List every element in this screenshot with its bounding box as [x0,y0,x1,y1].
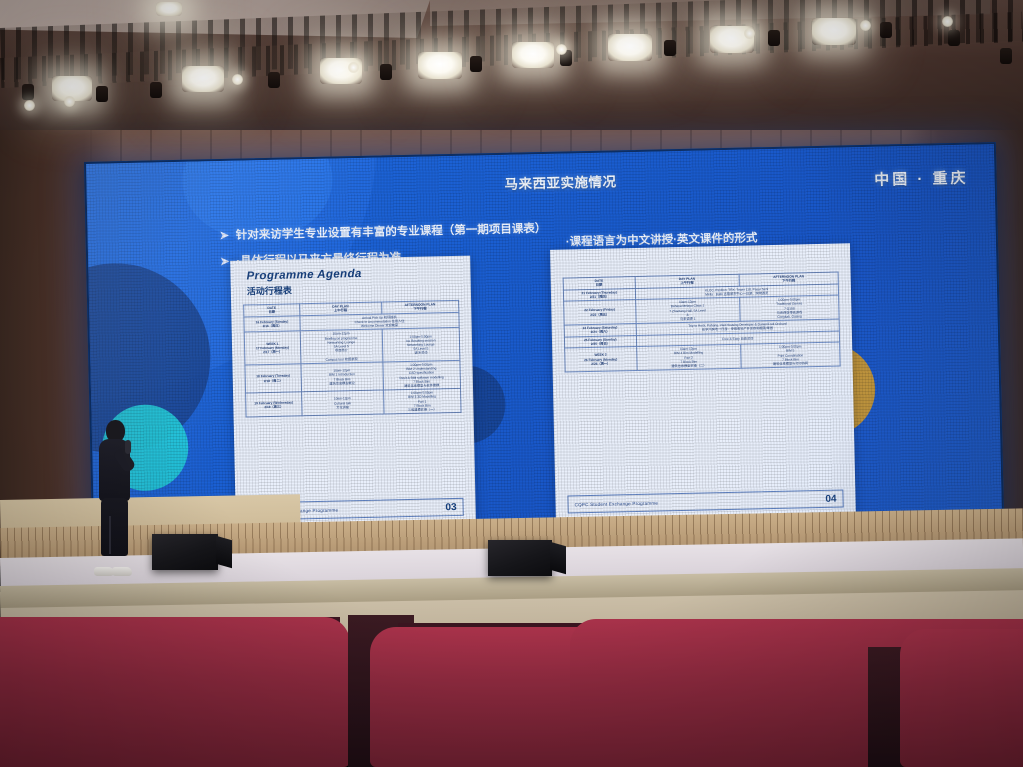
cell-date: 18 February (Tuesday)2/18（周二） [245,364,301,394]
stage-lamp [812,18,856,45]
cell-morning-plan: 10am-12pmCultural talk文化讲座 [301,390,383,416]
presenter-shoe-left [94,567,114,576]
spotlight-lens [556,44,567,55]
spotlight-fixture [268,72,280,88]
bullet-arrow-icon: ➤ [220,255,230,268]
spotlight-fixture [96,86,108,102]
cell-afternoon-plan: 1:00pm-5:00pmBIM 3 3D ModellingPart 17 B… [383,389,461,415]
spotlight-fixture [664,40,676,56]
auditorium-photo-scene: 马来西亚实施情况 中国 · 重庆 ➤针对来访学生专业设置有丰富的专业课程（第一期… [0,0,1023,767]
spotlight-lens [942,16,953,27]
stage-monitor-speaker-right [488,540,552,576]
stage-lamp [418,52,462,79]
spotlight-fixture [22,84,34,100]
stage-lamp-ceiling-recessed [156,2,182,16]
page-number: 03 [445,501,456,512]
presenter-with-microphone [92,420,148,576]
spotlight-lens [348,62,359,73]
spotlight-lens [744,28,755,39]
spotlight-fixture [150,82,162,98]
footer-label: CQPC Student Exchange Programme [575,500,659,507]
cell-date: WEEK 226 February (Monday)2/26（周一） [565,347,637,373]
cell-afternoon-plan: 1:00pm-5:00pmTraditional Games7 Q108马来西亚… [740,295,840,321]
presenter-leg-split [109,516,111,554]
presenter-legs [101,498,128,556]
spotlight-lens [24,100,35,111]
seat-back [900,629,1023,767]
cell-morning-plan: 10am-12pmBahasa Melayu Class 17 Zhaotang… [635,297,740,323]
spotlight-lens [232,74,243,85]
agenda-table-left: DATE日期DAY PLAN上午行程AFTERNOON PLAN下午行程 16 … [243,300,461,418]
spotlight-fixture [880,22,892,38]
spotlight-fixture [768,30,780,46]
slide-region-label: 中国 · 重庆 [874,167,969,190]
audience-seating [0,596,1023,767]
agenda-table-right: DATE日期DAY PLAN上午行程AFTERNOON PLAN下午行程 21 … [563,272,841,373]
table-row: WEEK 226 February (Monday)2/26（周一）10am-1… [565,342,840,372]
spotlight-lens [860,20,871,31]
spotlight-lens [64,96,75,107]
agenda-title-en: Programme Agenda [246,268,361,283]
cell-morning-plan: 10am-12pmBriefing on programmeNetworking… [300,329,382,363]
spotlight-fixture [1000,48,1012,64]
bullet-arrow-icon: ➤ [219,229,229,242]
cell-afternoon-plan: 1:00pm-5:00pmBIM 5Print Coordination7 Bl… [741,342,841,368]
microphone-icon [125,440,131,454]
stage-lamp [512,42,554,68]
led-presentation-screen[interactable]: 马来西亚实施情况 中国 · 重庆 ➤针对来访学生专业设置有丰富的专业课程（第一期… [84,142,1004,540]
cell-date: 19 February (Wednesday)2/19（周三） [246,392,302,417]
page-footer-right: CQPC Student Exchange Programme 04 [567,490,843,514]
cell-date: 16 February (Sunday)2/16（周日） [244,316,300,333]
cell-morning-plan: 10am-12pmBIM 1 Introduction7 Block Bim建筑… [301,362,383,392]
cell-afternoon-plan: 1:00pm-5:00pmIce Breaking sessionNetwork… [382,328,460,362]
stage-lamp [182,66,224,92]
agenda-title-zh: 活动行程表 [247,283,292,297]
page-number: 04 [825,493,836,504]
table-row: WEEK 117 February (Monday)2/17（周一）10am-1… [244,328,460,365]
cell-morning-plan: 10am-12pmBIM 4 Bim ModellingPart 27 Bloc… [636,344,741,370]
cell-afternoon-plan: 1:00pm-5:00pmBIM 2 UnderstandingCAD spec… [382,360,460,390]
spotlight-fixture [948,30,960,46]
stage-monitor-speaker-left [152,534,218,570]
table-row: 19 February (Wednesday)2/19（周三）10am-12pm… [246,389,461,418]
cell-date: 22 February (Friday)2/22（周五） [564,300,636,326]
presenter-shoe-right [112,567,132,576]
spotlight-fixture [380,64,392,80]
spotlight-fixture [470,56,482,72]
slide-page-right: DATE日期DAY PLAN上午行程AFTERNOON PLAN下午行程 21 … [550,243,856,521]
slide-main-title: 马来西亚实施情况 [504,170,616,192]
slide-page-left: Programme Agenda 活动行程表 DATE日期DAY PLAN上午行… [230,256,476,529]
seat-back [0,617,350,767]
stage-lamp [608,34,652,61]
cell-date: WEEK 117 February (Monday)2/17（周一） [244,331,301,365]
